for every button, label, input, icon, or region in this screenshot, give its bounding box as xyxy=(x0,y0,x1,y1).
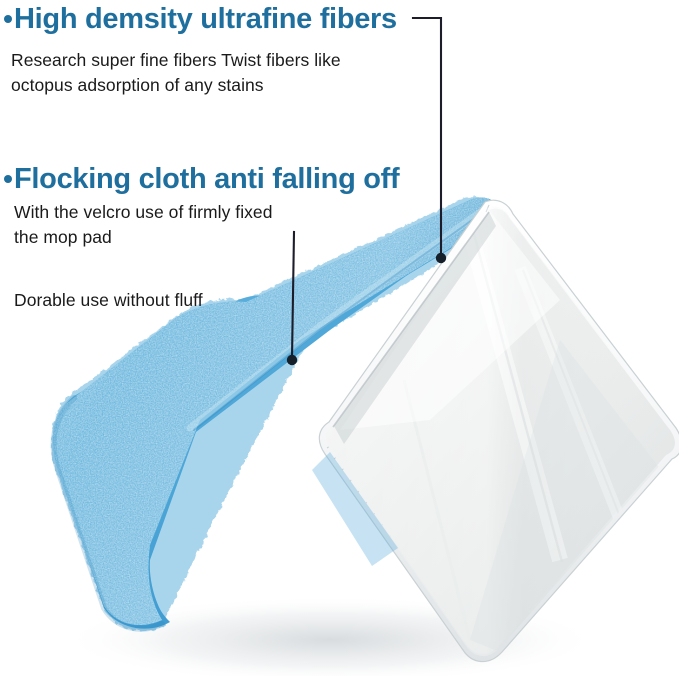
blue-pad-body xyxy=(53,198,496,625)
blue-microfiber-side xyxy=(40,190,520,640)
white-pad-creases xyxy=(320,200,679,676)
feature-body-high-density: Research super fine fibers Twist fibers … xyxy=(11,48,341,98)
leader-line-flocking-cloth xyxy=(287,232,297,365)
feature-heading-text: High demsity ultrafine fibers xyxy=(14,3,397,35)
leader-endpoint-dot xyxy=(436,253,446,263)
product-infographic: High demsity ultrafine fibers Research s… xyxy=(0,0,679,676)
blue-pad-face xyxy=(56,198,496,627)
white-pad-inner-shadow xyxy=(334,212,496,444)
blue-pad-left-roll xyxy=(54,398,162,629)
leader-line-high-density xyxy=(413,18,446,263)
blue-pad-fuzz-halo xyxy=(51,197,495,631)
blue-pad-silhouette xyxy=(53,205,494,629)
white-pad-tuck-line xyxy=(333,212,489,427)
white-pad-binding-edge xyxy=(319,200,679,661)
feature-body-durable: Dorable use without fluff xyxy=(14,288,203,313)
callout-leader-lines xyxy=(0,0,679,676)
bullet-dot-icon xyxy=(4,15,12,23)
feature-heading-text: Flocking cloth anti falling off xyxy=(14,163,399,195)
blue-pad-under-sliver xyxy=(312,452,398,566)
product-contact-shadow xyxy=(60,596,600,676)
bullet-dot-icon xyxy=(4,175,12,183)
feature-body-flocking-cloth: With the velcro use of firmly fixed the … xyxy=(14,200,273,250)
feature-heading-flocking-cloth: Flocking cloth anti falling off xyxy=(4,164,399,194)
product-photo xyxy=(0,0,679,676)
white-pad-stitching xyxy=(327,205,669,646)
blue-pad-texture xyxy=(40,190,520,640)
white-pad-face xyxy=(326,209,675,654)
white-flocking-side xyxy=(319,200,679,676)
leader-endpoint-dot xyxy=(287,355,297,365)
feature-heading-high-density: High demsity ultrafine fibers xyxy=(4,4,397,34)
